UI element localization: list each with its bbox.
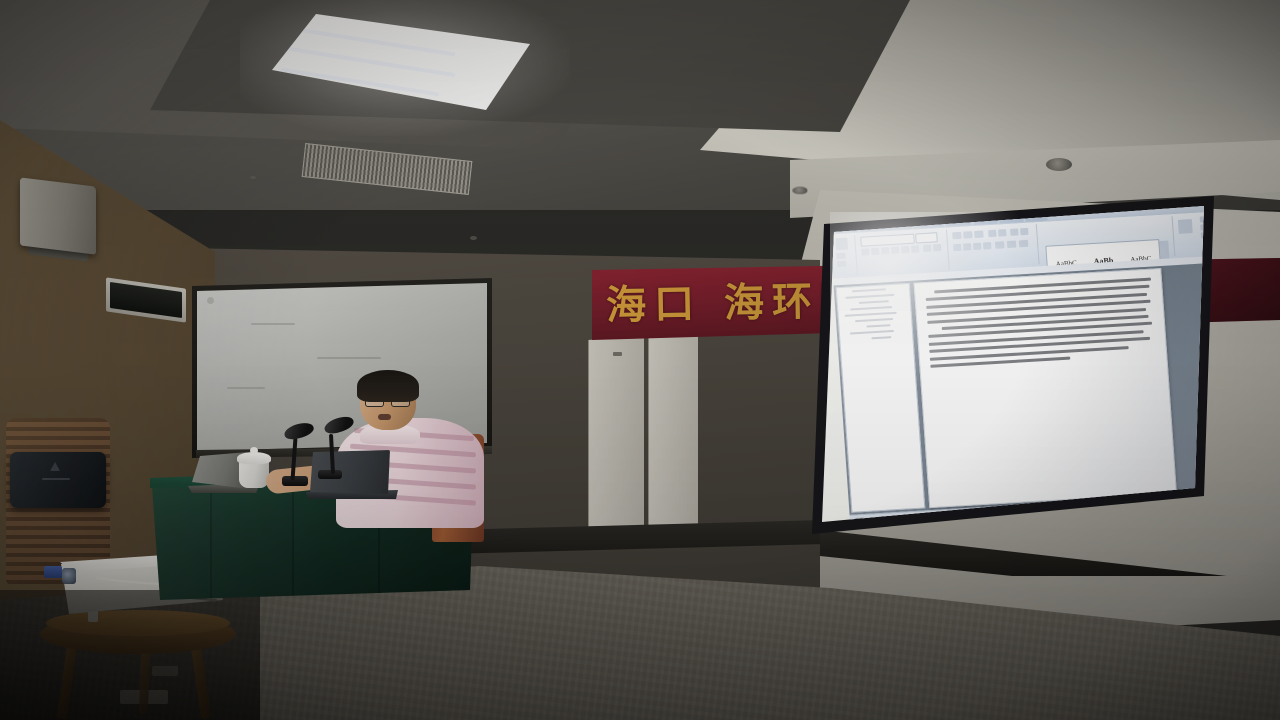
cloth-fold — [210, 482, 212, 600]
presenter-hair — [357, 370, 419, 402]
floor-paper — [152, 666, 178, 676]
recessed-downlight-icon — [792, 186, 808, 195]
paste-icon[interactable] — [835, 238, 848, 251]
ribbon-group-divider — [1172, 216, 1176, 256]
nav-entry[interactable] — [846, 294, 895, 299]
nav-entry[interactable] — [850, 306, 892, 311]
wall-vent-panel-inner — [110, 282, 182, 318]
bullets-icon[interactable] — [952, 232, 961, 240]
multilevel-list-icon[interactable] — [974, 230, 983, 238]
whiteboard-smudge — [227, 387, 265, 389]
nav-entry[interactable] — [844, 312, 897, 317]
subscript-icon[interactable] — [901, 246, 909, 253]
sort-icon[interactable] — [1010, 228, 1018, 235]
align-center-icon[interactable] — [963, 243, 971, 250]
ceiling-fixture-dot — [470, 236, 477, 240]
whiteboard-smudge — [207, 297, 214, 304]
ribbon-group-divider — [854, 235, 858, 275]
nav-entry[interactable] — [866, 324, 890, 327]
text-highlight-icon[interactable] — [923, 245, 931, 252]
bold-icon[interactable] — [861, 248, 869, 255]
ceiling-fixture-dot — [250, 176, 256, 179]
conference-room-photo: 海口 海环院环 — [0, 0, 1280, 720]
justify-icon[interactable] — [983, 242, 991, 249]
align-left-icon[interactable] — [953, 244, 961, 251]
copy-icon[interactable] — [837, 261, 846, 268]
increase-indent-icon[interactable] — [998, 229, 1006, 236]
align-right-icon[interactable] — [973, 243, 981, 250]
change-styles-icon[interactable] — [1178, 219, 1193, 234]
whiteboard-smudge — [251, 323, 295, 325]
wall-speaker-icon — [20, 177, 96, 254]
italic-icon[interactable] — [871, 248, 879, 255]
font-color-icon[interactable] — [933, 244, 941, 251]
borders-icon[interactable] — [1019, 240, 1028, 248]
cut-icon[interactable] — [836, 253, 845, 260]
line-spacing-icon[interactable] — [995, 241, 1004, 249]
underline-icon[interactable] — [881, 247, 889, 254]
word-document-area[interactable] — [834, 262, 1204, 515]
nav-entry[interactable] — [852, 288, 886, 292]
teacup-knob — [250, 447, 258, 454]
superscript-icon[interactable] — [911, 245, 919, 252]
projection-screen[interactable]: AaBbC AaBb AaBbC — [822, 206, 1204, 522]
ceiling-recessed-bay — [150, 0, 910, 132]
strikethrough-icon[interactable] — [891, 247, 899, 254]
font-size-select[interactable] — [915, 232, 938, 243]
numbering-icon[interactable] — [963, 231, 972, 239]
door-panel-right[interactable] — [648, 334, 700, 538]
nav-entry[interactable] — [849, 330, 894, 335]
nav-entry[interactable] — [859, 300, 888, 304]
microphone-base — [282, 476, 308, 486]
projected-word-window[interactable]: AaBbC AaBb AaBbC — [829, 206, 1204, 522]
document-page[interactable] — [914, 268, 1177, 508]
decrease-indent-icon[interactable] — [988, 230, 996, 237]
nav-entry[interactable] — [871, 336, 891, 339]
ribbon-group-divider — [1036, 224, 1040, 264]
door-panel-left[interactable] — [588, 336, 646, 536]
ribbon-group-divider — [946, 230, 950, 270]
sprinkler-head-icon — [1046, 158, 1072, 171]
presenter-mouth — [378, 414, 391, 420]
cloth-fold — [292, 478, 294, 598]
font-family-select[interactable] — [860, 234, 915, 247]
door-handle-icon — [613, 352, 622, 356]
show-marks-icon[interactable] — [1020, 228, 1028, 235]
find-icon[interactable] — [1200, 215, 1204, 222]
navigation-pane[interactable] — [836, 283, 926, 513]
shading-icon[interactable] — [1007, 241, 1016, 249]
whiteboard-smudge — [317, 357, 381, 359]
nav-entry[interactable] — [855, 318, 893, 322]
